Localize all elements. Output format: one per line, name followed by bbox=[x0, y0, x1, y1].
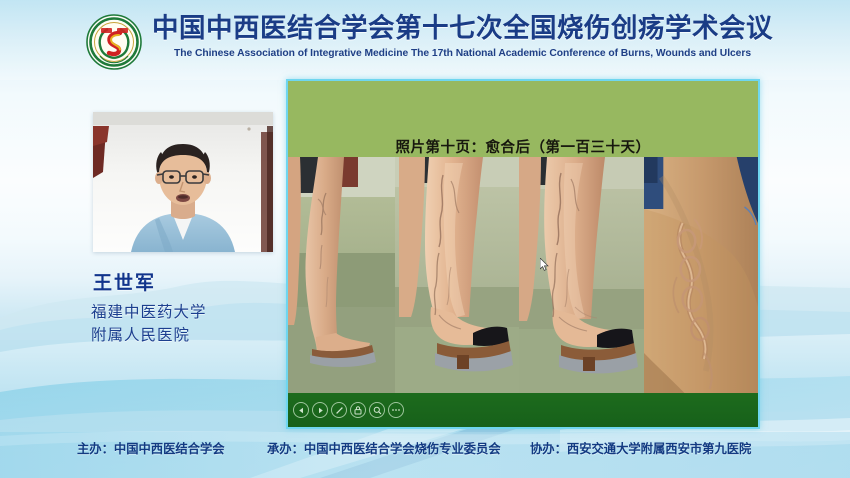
conference-header: 中国中西医结合学会第十七次全国烧伤创疡学术会议 The Chinese Asso… bbox=[0, 0, 850, 80]
lock-icon bbox=[354, 406, 362, 415]
speaker-webcam-video[interactable] bbox=[93, 112, 273, 252]
conference-broadcast-screen: 中国中西医结合学会第十七次全国烧伤创疡学术会议 The Chinese Asso… bbox=[0, 0, 850, 478]
speaker-panel: 王世军 福建中医药大学 附属人民医院 bbox=[63, 112, 283, 348]
pen-icon bbox=[335, 406, 344, 415]
slide-toolbar[interactable] bbox=[288, 393, 758, 427]
zoom-button[interactable] bbox=[369, 402, 385, 418]
triangle-left-icon bbox=[298, 407, 305, 414]
conference-footer: 主办：中国中西医结合学会 承办：中国中西医结合学会烧伤专业委员会 协办：西安交通… bbox=[0, 432, 850, 478]
triangle-right-icon bbox=[317, 407, 324, 414]
speaker-name: 王世军 bbox=[93, 268, 283, 295]
previous-page-button[interactable] bbox=[293, 402, 309, 418]
slide-title: 照片第十页：愈合后（第一百三十天） bbox=[288, 136, 758, 157]
mouse-cursor-icon bbox=[540, 258, 549, 271]
cn-integrative-medicine-logo-icon bbox=[86, 14, 142, 70]
speaker-org-line-1: 福建中医药大学 bbox=[91, 301, 283, 324]
speaker-organization: 福建中医药大学 附属人民医院 bbox=[91, 301, 283, 348]
conference-title-cn: 中国中西医结合学会第十七次全国烧伤创疡学术会议 bbox=[150, 12, 775, 45]
clinical-photo bbox=[395, 157, 519, 397]
speaker-video-frame-icon bbox=[93, 112, 273, 252]
ellipsis-icon bbox=[391, 408, 401, 412]
annotate-pen-button[interactable] bbox=[331, 402, 347, 418]
clinical-photo bbox=[519, 157, 644, 397]
clinical-photo bbox=[288, 157, 395, 397]
shared-slide-viewport[interactable]: 照片第十页：愈合后（第一百三十天） bbox=[286, 79, 760, 429]
speaker-org-line-2: 附属人民医院 bbox=[91, 324, 283, 347]
header-title-block: 中国中西医结合学会第十七次全国烧伤创疡学术会议 The Chinese Asso… bbox=[150, 12, 775, 59]
healed-scar-closeup-icon bbox=[644, 157, 758, 397]
next-page-button[interactable] bbox=[312, 402, 328, 418]
more-options-button[interactable] bbox=[388, 402, 404, 418]
lock-button[interactable] bbox=[350, 402, 366, 418]
footer-co-organizer: 协办：西安交通大学附属西安市第九医院 bbox=[530, 439, 751, 457]
leg-photo-lateral-icon bbox=[288, 157, 395, 397]
slide-photo-strip bbox=[288, 157, 758, 397]
clinical-photo-closeup bbox=[644, 157, 758, 397]
footer-undertaker: 承办：中国中西医结合学会烧伤专业委员会 bbox=[267, 439, 501, 457]
leg-photo-front-icon bbox=[395, 157, 519, 397]
conference-title-en: The Chinese Association of Integrative M… bbox=[150, 48, 775, 59]
footer-organizer: 主办：中国中西医结合学会 bbox=[77, 439, 225, 457]
leg-photo-angled-icon bbox=[519, 157, 644, 397]
magnifier-icon bbox=[373, 406, 382, 415]
